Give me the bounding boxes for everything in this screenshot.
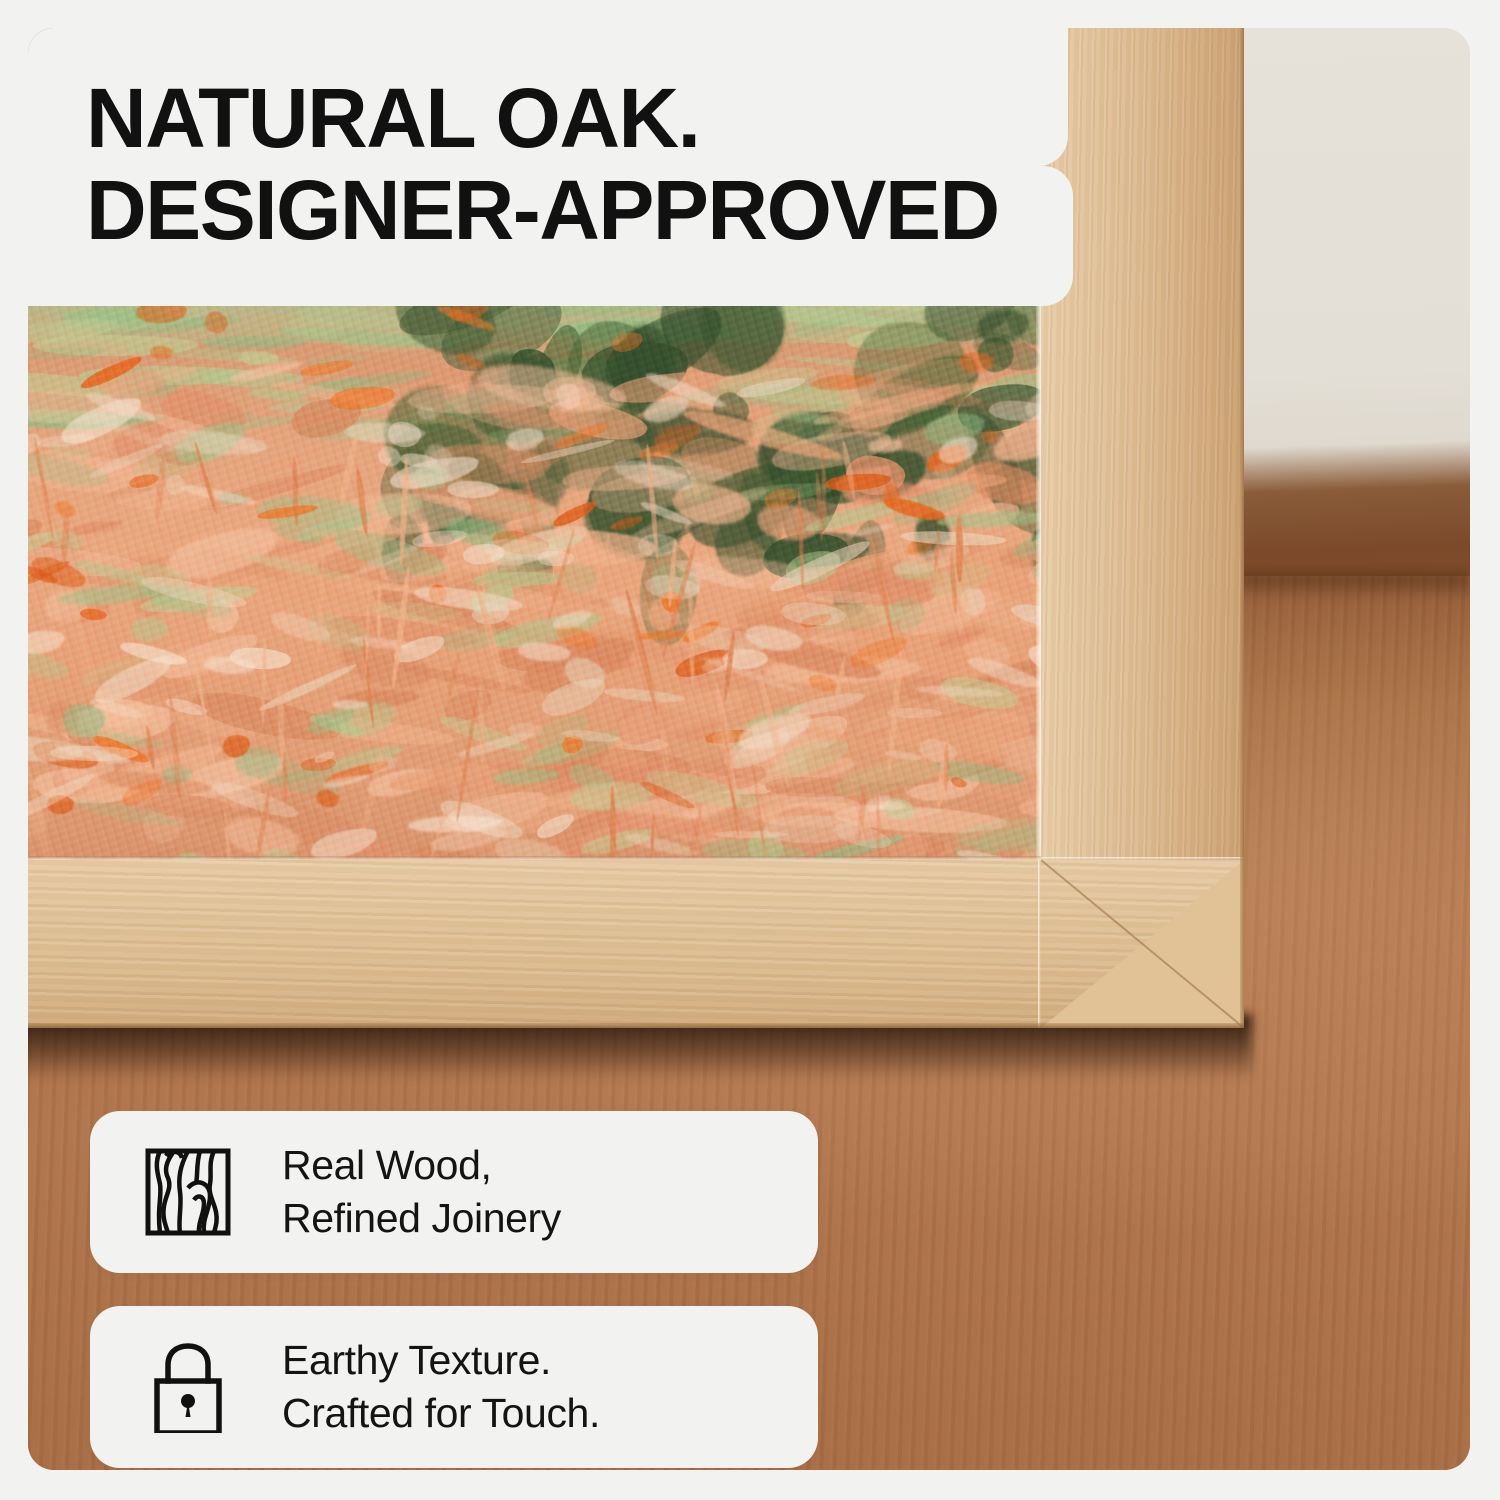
- feature-line-1a: Real Wood,: [282, 1139, 561, 1192]
- frame-outer-edge-right: [1240, 28, 1244, 1028]
- frame-mitre-joint: [1041, 860, 1244, 1028]
- painting-edge-bottom: [28, 856, 1041, 860]
- padlock-icon: [142, 1341, 234, 1433]
- headline-line-1: NATURAL OAK.: [86, 76, 700, 160]
- wood-grain-icon: [142, 1146, 234, 1238]
- feature-line-1b: Refined Joinery: [282, 1192, 561, 1245]
- feature-badge-real-wood: Real Wood, Refined Joinery: [90, 1111, 818, 1273]
- product-listing-image: NATURAL OAK. DESIGNER-APPROVED R: [0, 0, 1500, 1500]
- feature-badge-earthy-texture: Earthy Texture. Crafted for Touch.: [90, 1306, 818, 1468]
- frame-outer-edge-bottom: [28, 1023, 1244, 1028]
- feature-line-2b: Crafted for Touch.: [282, 1387, 600, 1440]
- feature-line-2a: Earthy Texture.: [282, 1334, 600, 1387]
- product-photo: NATURAL OAK. DESIGNER-APPROVED R: [28, 28, 1470, 1470]
- feature-badge-text-2: Earthy Texture. Crafted for Touch.: [282, 1334, 600, 1440]
- headline-line-2: DESIGNER-APPROVED: [86, 168, 999, 252]
- feature-badge-text-1: Real Wood, Refined Joinery: [282, 1139, 561, 1245]
